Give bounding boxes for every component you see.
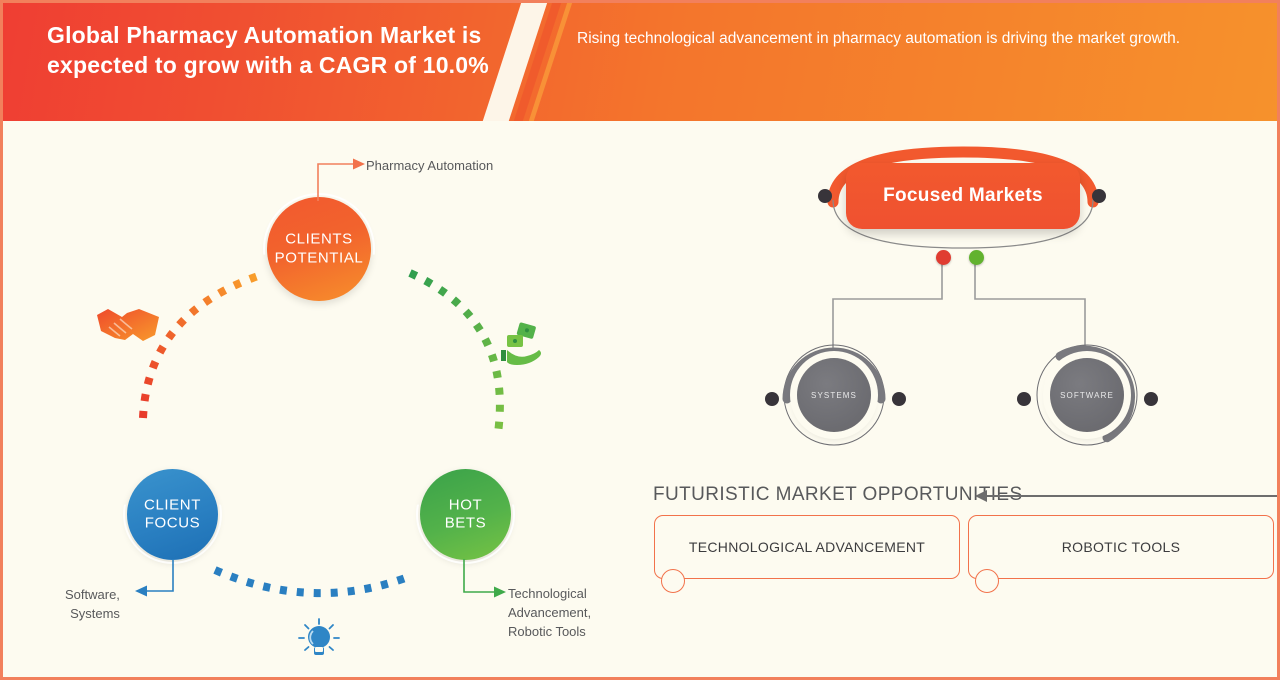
label-software-systems: Software, Systems (65, 586, 120, 624)
connectors-pins-to-circles (823, 255, 1113, 355)
pin-green (969, 250, 984, 265)
box-robotic-tools-marker (975, 569, 999, 593)
dotted-arc-blue (203, 558, 423, 618)
header-title: Global Pharmacy Automation Market is exp… (47, 21, 507, 80)
software-circle[interactable]: SOFTWARE (1050, 358, 1124, 432)
focused-markets-label: Focused Markets (883, 185, 1043, 207)
handshake-icon (95, 301, 163, 351)
node-client-focus-arc (123, 465, 222, 564)
box-robotic-tools-label: ROBOTIC TOOLS (1062, 539, 1181, 555)
software-dot-right (1144, 392, 1158, 406)
pin-red (936, 250, 951, 265)
box-robotic-tools[interactable]: ROBOTIC TOOLS (968, 515, 1274, 579)
node-clients-potential[interactable]: CLIENTS POTENTIAL (267, 197, 371, 301)
software-dot-left (1017, 392, 1031, 406)
label-tech-robotic: Technological Advancement, Robotic Tools (508, 585, 591, 642)
opportunities-arrow (973, 486, 1280, 506)
box-technological-advancement-label: TECHNOLOGICAL ADVANCEMENT (689, 539, 925, 555)
money-hand-icon (500, 320, 548, 366)
header-subtitle: Rising technological advancement in phar… (577, 27, 1237, 50)
pill-dot-left (818, 189, 832, 203)
node-hot-bets-arc (416, 465, 515, 564)
infographic-page: Global Pharmacy Automation Market is exp… (0, 0, 1280, 680)
systems-dot-left (765, 392, 779, 406)
node-hot-bets[interactable]: HOT BETS (420, 469, 511, 560)
box-technological-advancement[interactable]: TECHNOLOGICAL ADVANCEMENT (654, 515, 960, 579)
node-client-focus[interactable]: CLIENT FOCUS (127, 469, 218, 560)
software-circle-label: SOFTWARE (1060, 391, 1114, 400)
systems-circle[interactable]: SYSTEMS (797, 358, 871, 432)
opportunities-heading: FUTURISTIC MARKET OPPORTUNITIES (653, 484, 1023, 506)
box-technological-advancement-marker (661, 569, 685, 593)
focused-markets-pill[interactable]: Focused Markets (846, 163, 1080, 229)
connector-pharmacy-automation (313, 153, 373, 203)
header-banner: Global Pharmacy Automation Market is exp… (3, 3, 1280, 121)
systems-circle-label: SYSTEMS (811, 391, 857, 400)
label-pharmacy-automation: Pharmacy Automation (366, 157, 493, 176)
systems-dot-right (892, 392, 906, 406)
pill-dot-right (1092, 189, 1106, 203)
lightbulb-icon (297, 617, 341, 663)
connector-software-systems (129, 559, 189, 604)
